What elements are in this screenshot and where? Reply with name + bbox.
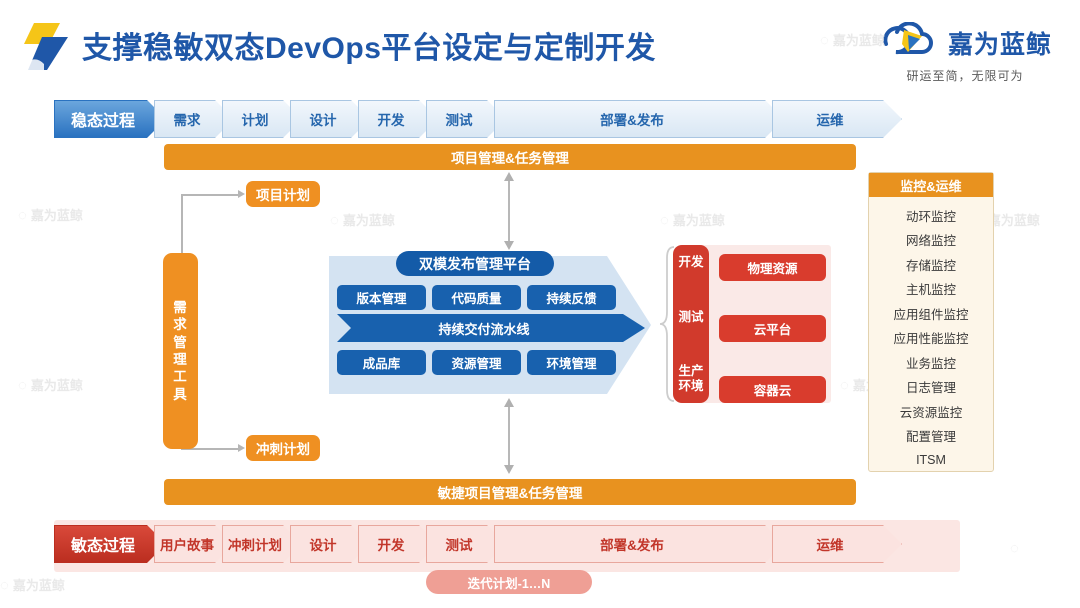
- page-title: 支撑稳敏双态DevOps平台设定与定制开发: [82, 23, 656, 67]
- agile-flow-lead-label: 敏态过程: [71, 532, 149, 556]
- monitoring-item[interactable]: ITSM: [869, 448, 993, 473]
- platform-title: 双模发布管理平台: [396, 251, 554, 276]
- platform-box-env-mgmt: 环境管理: [527, 350, 616, 375]
- agile-flow-lead[interactable]: 敏态过程: [54, 525, 166, 563]
- monitoring-item[interactable]: 应用性能监控: [869, 326, 993, 351]
- stable-flow-step-label: 设计: [310, 109, 351, 129]
- monitoring-item[interactable]: 日志管理: [869, 375, 993, 400]
- requirement-management-tool-box: 需求管理工具: [163, 253, 198, 449]
- brand-name: 嘉为蓝鲸: [948, 25, 1052, 61]
- environment-stage-column: 开发 测试 生产 环境: [673, 245, 709, 403]
- watermark: ◌嘉为蓝鲸: [330, 210, 395, 229]
- agile-project-task-management-bar: 敏捷项目管理&任务管理: [164, 479, 856, 505]
- arrow-tip-bottom: [238, 444, 245, 452]
- monitoring-panel-title: 监控&运维: [869, 173, 993, 197]
- stable-flow-step-label: 部署&发布: [600, 109, 678, 129]
- continuous-delivery-pipeline: 持续交付流水线: [337, 314, 645, 342]
- resource-box-physical: 物理资源: [719, 254, 826, 281]
- monitoring-item[interactable]: 存储监控: [869, 252, 993, 277]
- watermark: ◌嘉为蓝鲸: [18, 375, 83, 394]
- monitoring-item[interactable]: 动环监控: [869, 203, 993, 228]
- agile-flow-step-label: 开发: [378, 534, 419, 554]
- watermark: ◌嘉为蓝鲸: [18, 205, 83, 224]
- agile-flow-step-label: 冲刺计划: [228, 534, 296, 554]
- stable-flow-step-label: 运维: [817, 109, 858, 129]
- iteration-plan-badge: 迭代计划-1…N: [426, 570, 592, 594]
- monitoring-item[interactable]: 云资源监控: [869, 399, 993, 424]
- agile-flow-step[interactable]: 部署&发布: [494, 525, 784, 563]
- monitoring-item[interactable]: 网络监控: [869, 228, 993, 253]
- stable-flow-step-label: 计划: [242, 109, 283, 129]
- whale-cloud-icon: [878, 22, 940, 63]
- stable-flow-step-label: 需求: [174, 109, 215, 129]
- watermark: ◌嘉为蓝鲸: [0, 575, 65, 594]
- requirement-tool-char: 管: [173, 334, 188, 351]
- env-label-test: 测试: [678, 310, 703, 324]
- monitoring-item-list: 动环监控网络监控存储监控主机监控应用组件监控应用性能监控业务监控日志管理云资源监…: [869, 197, 993, 473]
- monitoring-item[interactable]: 应用组件监控: [869, 301, 993, 326]
- resource-box-cloud: 云平台: [719, 315, 826, 342]
- arrow-platform-to-bottom: [502, 398, 516, 479]
- brand-tagline: 研运至简，无限可为: [878, 67, 1052, 84]
- project-plan-box: 项目计划: [246, 181, 320, 207]
- agile-flow-step-label: 测试: [446, 534, 487, 554]
- agile-process-flow: 敏态过程用户故事冲刺计划设计开发测试部署&发布运维: [54, 525, 890, 563]
- project-task-management-bar: 项目管理&任务管理: [164, 144, 856, 170]
- stable-process-flow: 稳态过程需求计划设计开发测试部署&发布运维: [54, 100, 890, 138]
- agile-flow-step-label: 用户故事: [160, 534, 228, 554]
- monitoring-ops-panel: 监控&运维 动环监控网络监控存储监控主机监控应用组件监控应用性能监控业务监控日志…: [868, 172, 994, 472]
- platform-box-version: 版本管理: [337, 285, 426, 310]
- stable-flow-lead-label: 稳态过程: [71, 107, 149, 131]
- requirement-tool-char: 工: [173, 368, 188, 385]
- requirement-tool-char: 理: [173, 351, 188, 368]
- stable-flow-step-label: 测试: [446, 109, 487, 129]
- platform-box-continuous-feedback: 持续反馈: [527, 285, 616, 310]
- monitoring-item[interactable]: 主机监控: [869, 277, 993, 302]
- lightning-bolt-logo-icon: [16, 20, 72, 72]
- agile-flow-step-label: 运维: [817, 534, 858, 554]
- resource-box-container: 容器云: [719, 376, 826, 403]
- requirement-tool-char: 具: [173, 386, 188, 403]
- arrow-top-to-platform: [502, 172, 516, 255]
- stable-flow-lead[interactable]: 稳态过程: [54, 100, 166, 138]
- monitoring-item[interactable]: 配置管理: [869, 424, 993, 449]
- watermark: ◌嘉为蓝鲸: [660, 210, 725, 229]
- arrow-tip-top: [238, 190, 245, 198]
- stable-flow-step[interactable]: 运维: [772, 100, 902, 138]
- sprint-plan-box: 冲刺计划: [246, 435, 320, 461]
- env-label-prod: 生产 环境: [678, 364, 703, 393]
- agile-flow-step[interactable]: 运维: [772, 525, 902, 563]
- requirement-tool-char: 需: [173, 299, 188, 316]
- page-header: 支撑稳敏双态DevOps平台设定与定制开发 嘉为蓝鲸 研运至简，无限可为: [0, 0, 1080, 88]
- env-label-dev: 开发: [678, 255, 703, 269]
- platform-box-artifact-repo: 成品库: [337, 350, 426, 375]
- left-connector-top: [181, 194, 239, 196]
- requirement-tool-char: 求: [173, 316, 188, 333]
- brand-logo: 嘉为蓝鲸 研运至简，无限可为: [878, 22, 1052, 84]
- stable-flow-step[interactable]: 部署&发布: [494, 100, 784, 138]
- platform-box-resource-mgmt: 资源管理: [432, 350, 521, 375]
- stable-flow-step-label: 开发: [378, 109, 419, 129]
- monitoring-item[interactable]: 业务监控: [869, 350, 993, 375]
- platform-box-code-quality: 代码质量: [432, 285, 521, 310]
- agile-flow-step-label: 设计: [310, 534, 351, 554]
- watermark: ◌: [1010, 540, 1023, 557]
- agile-flow-step-label: 部署&发布: [600, 534, 678, 554]
